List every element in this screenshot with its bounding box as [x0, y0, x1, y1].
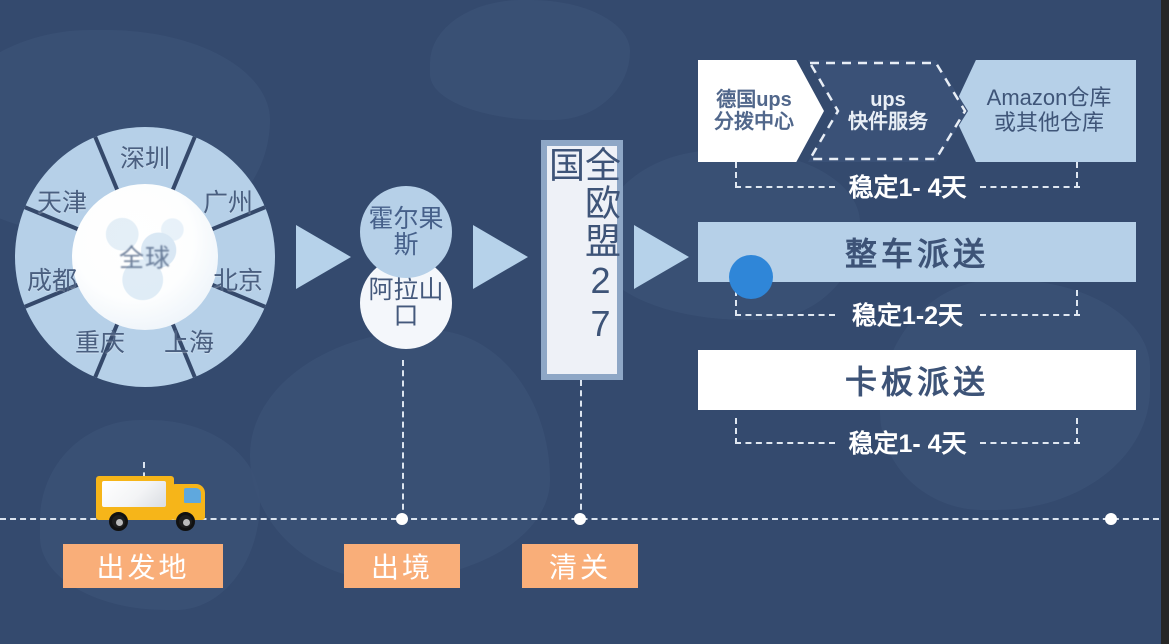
timeline-label-text: 清关	[549, 546, 611, 586]
city-label-beijing: 北京	[213, 261, 263, 297]
timeline-stem-exit	[402, 360, 404, 520]
border-crossing-label: 阿拉山口	[360, 277, 452, 329]
timeline-stem-customs	[580, 380, 582, 520]
right-edge-strip	[1161, 0, 1169, 644]
timeline-dot-customs	[574, 513, 586, 525]
chevron-text: ups 快件服务	[808, 89, 968, 134]
chevron-line1: Amazon仓库	[987, 86, 1112, 111]
city-label-shenzhen: 深圳	[120, 139, 170, 175]
city-label-tianjin: 天津	[37, 183, 87, 219]
eu-plate-inner: 全欧盟27国	[547, 146, 617, 374]
flow-arrow-icon	[634, 225, 689, 289]
chevron-line2: 快件服务	[808, 111, 968, 133]
city-label-chengdu: 成都	[27, 261, 77, 297]
truck-cargo-box	[102, 481, 166, 507]
ups-chevron-chain: Amazon仓库 或其他仓库 ups 快件服务 德国ups 分拨中心	[698, 60, 1136, 162]
map-silhouette	[430, 0, 630, 120]
city-label-shanghai: 上海	[164, 323, 214, 359]
transit-bracket-pallet: 稳定1- 4天	[735, 418, 1080, 452]
hub-label: 全球	[72, 238, 218, 274]
chevron-amazon-warehouse: Amazon仓库 或其他仓库	[952, 60, 1136, 162]
logistics-flow-diagram: 全球 深圳 广州 北京 上海 重庆 成都 天津 阿拉山口 霍尔果斯 全欧盟27国…	[0, 0, 1169, 644]
chevron-line1: 德国ups	[714, 89, 794, 111]
flow-arrow-icon	[296, 225, 351, 289]
globe-hub: 全球	[72, 184, 218, 330]
chevron-line2: 或其他仓库	[987, 111, 1112, 136]
transit-bracket-ups: 稳定1- 4天	[735, 162, 1080, 196]
eu-customs-plate: 全欧盟27国	[541, 140, 623, 380]
timeline-dot-exit	[396, 513, 408, 525]
chevron-line2: 分拨中心	[714, 111, 794, 133]
timeline-dot-destination	[1105, 513, 1117, 525]
timeline-label-customs: 清关	[522, 544, 638, 588]
transit-duration-label: 稳定1- 4天	[735, 424, 1080, 460]
timeline-label-exit: 出境	[344, 544, 460, 588]
delivery-option-pallet[interactable]: 卡板派送	[698, 350, 1136, 410]
chevron-ups-express: ups 快件服务	[808, 60, 968, 162]
truck-wheel	[109, 512, 128, 531]
timeline-label-origin: 出发地	[63, 544, 223, 588]
transit-duration-label: 稳定1- 4天	[735, 168, 1080, 204]
cursor-indicator-dot	[729, 255, 773, 299]
truck-window	[184, 488, 201, 503]
delivery-option-label: 整车派送	[845, 229, 989, 275]
chevron-german-ups-hub: 德国ups 分拨中心	[698, 60, 824, 162]
city-label-chongqing: 重庆	[75, 323, 125, 359]
eu-plate-label: 全欧盟27国	[546, 146, 618, 374]
delivery-option-label: 卡板派送	[845, 357, 989, 403]
truck-wheel	[176, 512, 195, 531]
chevron-line1: ups	[808, 89, 968, 111]
city-label-guangzhou: 广州	[203, 183, 253, 219]
timeline-label-text: 出境	[371, 546, 433, 586]
map-silhouette	[250, 330, 550, 580]
flow-arrow-icon	[473, 225, 528, 289]
border-crossing-horgos: 霍尔果斯	[360, 186, 452, 278]
transit-bracket-truckload: 稳定1-2天	[735, 290, 1080, 324]
timeline-label-text: 出发地	[96, 546, 189, 586]
transit-duration-label: 稳定1-2天	[735, 296, 1080, 332]
border-crossing-label: 霍尔果斯	[360, 206, 452, 258]
delivery-truck-icon	[96, 472, 214, 534]
